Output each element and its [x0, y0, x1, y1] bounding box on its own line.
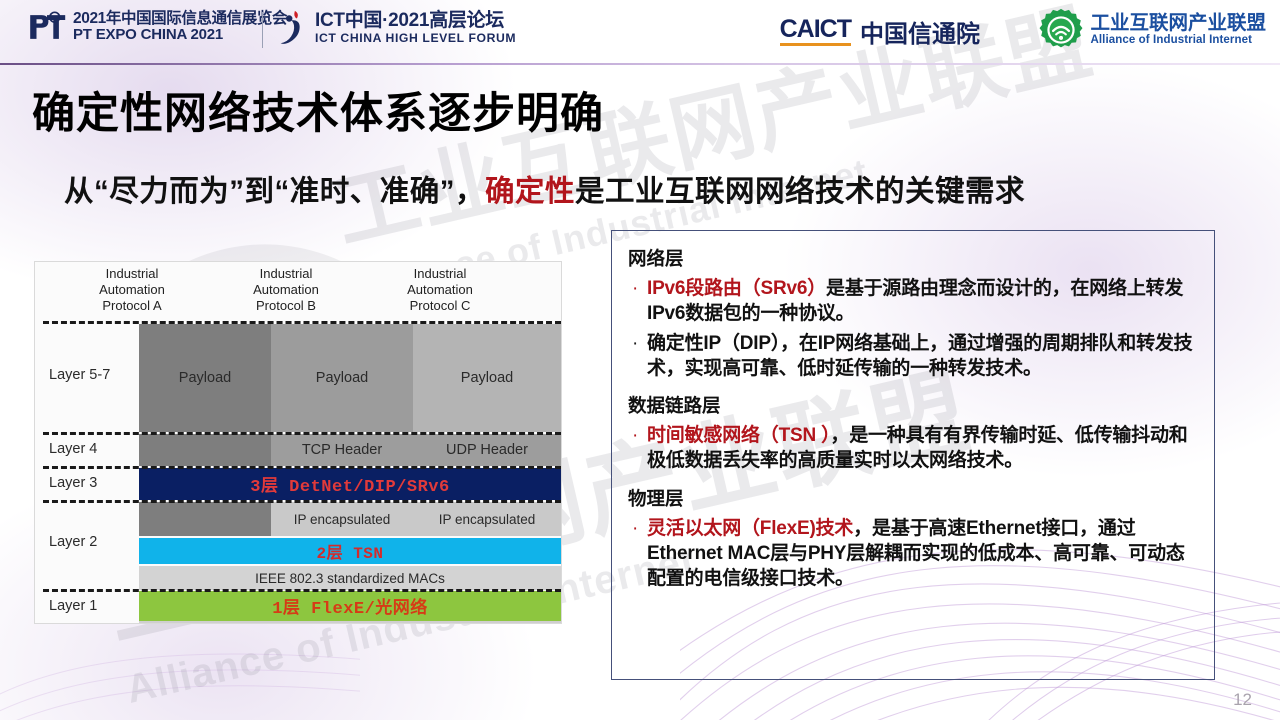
bullet-highlight: 灵活以太网（FlexE)技术	[647, 518, 853, 539]
layer2-block-ip-b: IP encapsulated	[271, 502, 413, 536]
caict-abbr: CAICT	[780, 17, 851, 46]
layer2-block-a	[139, 502, 271, 536]
bullet-text: 时间敏感网络（TSN ），是一种具有有界传输时延、低传输抖动和极低数据丢失率的高…	[647, 423, 1200, 474]
bullet-highlight: 时间敏感网络（TSN ）	[647, 425, 830, 446]
bullet-dot-icon: ·	[628, 276, 647, 327]
layer4-block-udp: UDP Header	[413, 434, 561, 466]
aii-logo: 工业互联网产业联盟 Alliance of Industrial Interne…	[1039, 8, 1266, 52]
aii-cn: 工业互联网产业联盟	[1090, 13, 1266, 34]
bullet-srv6: · IPv6段路由（SRv6）是基于源路由理念而设计的，在网络上转发IPv6数据…	[628, 276, 1200, 327]
mac-block: IEEE 802.3 standardized MACs	[139, 566, 561, 590]
caict-logo: CAICT 中国信通院	[780, 14, 980, 49]
layer1-flexe-bar: 1层 FlexE/光网络	[139, 591, 561, 621]
aii-gear-logo-icon	[1039, 8, 1083, 52]
subtitle-highlight: 确定性	[485, 175, 575, 208]
ict-forum-logo: ICT中国·2021高层论坛 ICT CHINA HIGH LEVEL FORU…	[278, 9, 516, 47]
bullet-text: IPv6段路由（SRv6）是基于源路由理念而设计的，在网络上转发IPv6数据包的…	[647, 276, 1200, 327]
page-title: 确定性网络技术体系逐步明确	[32, 79, 604, 141]
layer-label-5-7: Layer 5-7	[49, 367, 110, 383]
pt-expo-en: PT EXPO CHINA 2021	[73, 27, 287, 43]
bullet-dot-icon: ·	[628, 516, 647, 592]
section-heading-data-link-layer: 数据链路层	[628, 392, 1200, 418]
layer4-block-tcp: TCP Header	[271, 434, 413, 466]
subtitle-before: 从“尽力而为”到“准时、准确”，	[64, 175, 485, 208]
section-heading-network-layer: 网络层	[628, 245, 1200, 271]
layer4-block-a	[139, 434, 271, 466]
protocol-stack-diagram: Industrial Automation Protocol A Industr…	[34, 261, 562, 624]
ict-forum-logo-icon	[278, 9, 308, 47]
payload-block-c: Payload	[413, 324, 561, 432]
layer-label-4: Layer 4	[49, 441, 97, 457]
layer3-detnet-bar: 3层 DetNet/DIP/SRv6	[139, 468, 561, 500]
tech-description-panel: 网络层 · IPv6段路由（SRv6）是基于源路由理念而设计的，在网络上转发IP…	[611, 230, 1215, 680]
layer2-block-ip-c: IP encapsulated	[413, 502, 561, 536]
bullet-text: 灵活以太网（FlexE)技术，是基于高速Ethernet接口，通过Etherne…	[647, 516, 1200, 592]
layer-label-2: Layer 2	[49, 534, 97, 550]
page-number: 12	[1233, 690, 1252, 710]
aii-wordmark: 工业互联网产业联盟 Alliance of Industrial Interne…	[1090, 13, 1266, 47]
ict-forum-en: ICT CHINA HIGH LEVEL FORUM	[315, 32, 516, 45]
pt-expo-cn: 2021年中国国际信息通信展览会	[73, 11, 287, 27]
layer-label-1: Layer 1	[49, 598, 97, 614]
aii-en: Alliance of Industrial Internet	[1090, 34, 1266, 47]
pt-expo-logo: 2021年中国国际信息通信展览会 PT EXPO CHINA 2021	[26, 9, 287, 45]
payload-block-a: Payload	[139, 324, 271, 432]
layer-label-3: Layer 3	[49, 475, 97, 491]
ict-forum-wordmark: ICT中国·2021高层论坛 ICT CHINA HIGH LEVEL FORU…	[315, 11, 516, 44]
header-divider	[262, 12, 263, 48]
bullet-text: 确定性IP（DIP），在IP网络基础上，通过增强的周期排队和转发技术，实现高可靠…	[647, 331, 1200, 382]
header-rule	[0, 63, 1280, 65]
bullet-highlight: IPv6段路由（SRv6）	[647, 278, 826, 299]
slide-canvas: 工业互联网产业联盟 Alliance of Industrial Interne…	[0, 0, 1280, 720]
section-heading-physical-layer: 物理层	[628, 485, 1200, 511]
bullet-dip: · 确定性IP（DIP），在IP网络基础上，通过增强的周期排队和转发技术，实现高…	[628, 331, 1200, 382]
layer2-tsn-bar: 2层 TSN	[139, 538, 561, 564]
caict-cn: 中国信通院	[860, 14, 980, 49]
bullet-flexe: · 灵活以太网（FlexE)技术，是基于高速Ethernet接口，通过Ether…	[628, 516, 1200, 592]
payload-block-b: Payload	[271, 324, 413, 432]
bullet-dot-icon: ·	[628, 331, 647, 382]
bullet-dot-icon: ·	[628, 423, 647, 474]
column-header-protocol-b: Industrial Automation Protocol B	[211, 266, 361, 314]
ict-forum-cn: ICT中国·2021高层论坛	[315, 11, 516, 31]
pt-expo-wordmark: 2021年中国国际信息通信展览会 PT EXPO CHINA 2021	[73, 11, 287, 43]
slide-header: 2021年中国国际信息通信展览会 PT EXPO CHINA 2021 ICT中…	[0, 0, 1280, 63]
bullet-tsn: · 时间敏感网络（TSN ），是一种具有有界传输时延、低传输抖动和极低数据丢失率…	[628, 423, 1200, 474]
page-subtitle: 从“尽力而为”到“准时、准确”，确定性是工业互联网网络技术的关键需求	[64, 168, 1025, 210]
bullet-rest: 确定性IP（DIP），在IP网络基础上，通过增强的周期排队和转发技术，实现高可靠…	[647, 333, 1192, 379]
pt-expo-logo-icon	[26, 9, 68, 45]
column-header-protocol-c: Industrial Automation Protocol C	[365, 266, 515, 314]
subtitle-after: 是工业互联网网络技术的关键需求	[575, 175, 1025, 208]
layer-label-column: Layer 5-7 Layer 4 Layer 3 Layer 2 Layer …	[35, 262, 139, 623]
